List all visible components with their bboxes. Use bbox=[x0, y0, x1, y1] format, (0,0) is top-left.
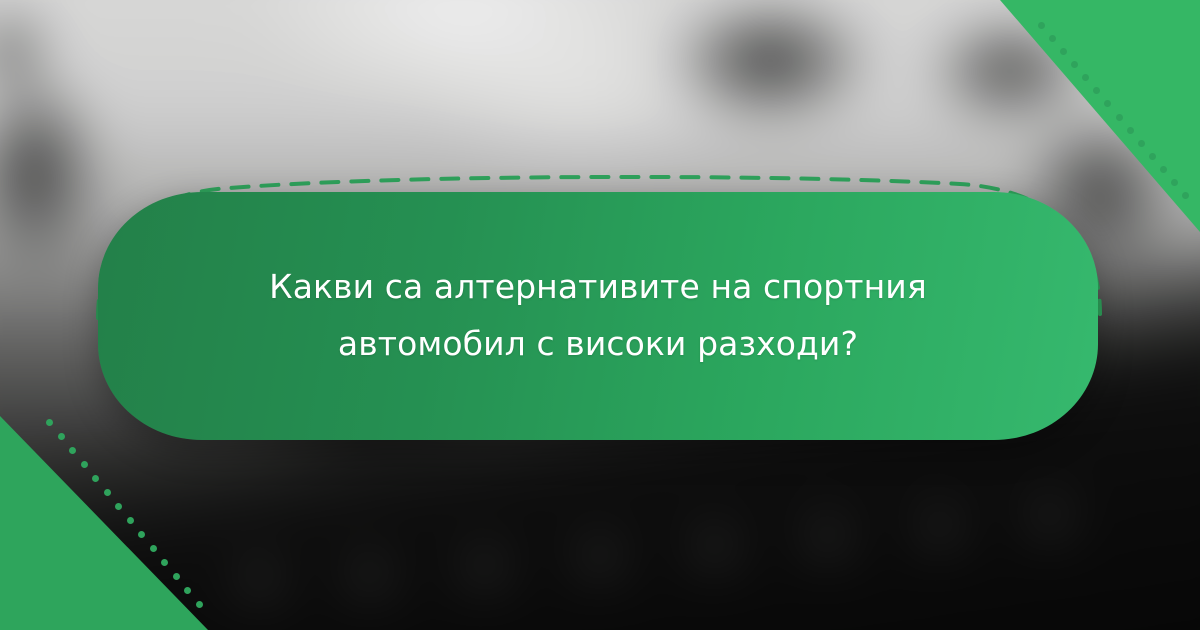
decor-dot-icon bbox=[1060, 48, 1067, 55]
decor-dot-icon bbox=[81, 461, 88, 468]
question-text: Какви са алтернативите на спортния автом… bbox=[218, 259, 978, 373]
decor-dot-icon bbox=[1093, 87, 1100, 94]
decor-dot-icon bbox=[1082, 74, 1089, 81]
decor-dot-icon bbox=[173, 573, 180, 580]
decor-dot-icon bbox=[92, 475, 99, 482]
decor-dot-icon bbox=[127, 517, 134, 524]
decor-dot-icon bbox=[1171, 179, 1178, 186]
decor-dot-icon bbox=[138, 531, 145, 538]
decor-dot-icon bbox=[1104, 100, 1111, 107]
panel-wave-top-edge bbox=[98, 191, 1098, 221]
decor-dot-icon bbox=[184, 587, 191, 594]
question-panel: Какви са алтернативите на спортния автом… bbox=[98, 192, 1098, 440]
decor-dot-icon bbox=[161, 559, 168, 566]
decor-dot-icon bbox=[1149, 153, 1156, 160]
decor-dot-icon bbox=[1071, 61, 1078, 68]
decor-dot-icon bbox=[1138, 140, 1145, 147]
decor-dot-icon bbox=[196, 601, 203, 608]
decor-dot-icon bbox=[104, 489, 111, 496]
decor-dot-icon bbox=[1182, 192, 1189, 199]
question-card-canvas: Какви са алтернативите на спортния автом… bbox=[0, 0, 1200, 630]
decor-dot-icon bbox=[1127, 127, 1134, 134]
decor-dot-icon bbox=[69, 447, 76, 454]
decor-dot-icon bbox=[58, 433, 65, 440]
decor-dot-icon bbox=[1038, 22, 1045, 29]
decor-dot-icon bbox=[1116, 114, 1123, 121]
decor-dot-icon bbox=[115, 503, 122, 510]
decor-dot-icon bbox=[150, 545, 157, 552]
decor-dot-icon bbox=[1160, 166, 1167, 173]
decor-dot-icon bbox=[1049, 35, 1056, 42]
panel-wave-bottom-edge bbox=[98, 411, 1098, 441]
decor-dot-icon bbox=[46, 419, 53, 426]
